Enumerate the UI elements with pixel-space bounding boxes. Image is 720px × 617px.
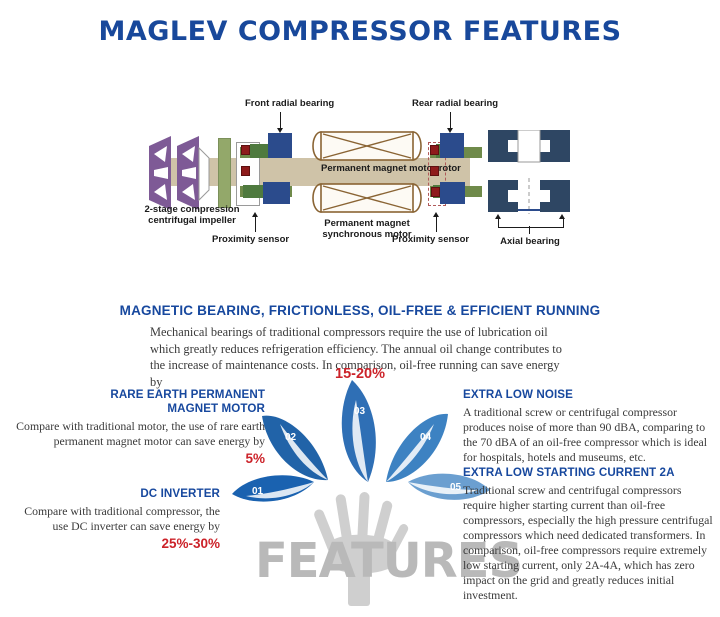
section-heading: MAGNETIC BEARING, FRICTIONLESS, OIL-FREE… bbox=[0, 303, 720, 318]
front-bearing-coil-top bbox=[250, 144, 268, 158]
front-bearing-block-bottom bbox=[263, 182, 290, 204]
petal-02[interactable] bbox=[262, 416, 328, 480]
label-impeller-line1: 2-stage compression bbox=[140, 204, 244, 215]
page-title: MAGLEV COMPRESSOR FEATURES bbox=[0, 16, 720, 47]
label-axial-bearing: Axial bearing bbox=[492, 236, 568, 247]
callout-dc-inverter-value-text: 25%-30% bbox=[161, 536, 220, 551]
callout-dc-inverter-heading: DC INVERTER bbox=[20, 487, 220, 501]
axial-bearing-graphic bbox=[488, 130, 570, 214]
petal-number-03: 03 bbox=[354, 406, 365, 417]
callout-rare-earth-body: Compare with traditional motor, the use … bbox=[10, 419, 265, 449]
features-watermark: FEATURES bbox=[255, 536, 490, 586]
label-proximity-sensor-right: Proximity sensor bbox=[392, 234, 469, 245]
motor-coil-top bbox=[312, 128, 422, 164]
petal-04[interactable] bbox=[386, 414, 448, 482]
infographic-page: MAGLEV COMPRESSOR FEATURES Front radial … bbox=[0, 0, 720, 617]
callout-low-noise-body: A traditional screw or centrifugal compr… bbox=[463, 405, 713, 465]
label-proximity-sensor-left: Proximity sensor bbox=[212, 234, 289, 245]
callout-low-current-body: Traditional screw and centrifugal compre… bbox=[463, 483, 715, 603]
callout-low-noise-heading: EXTRA LOW NOISE bbox=[463, 388, 713, 402]
rear-bearing-block-top bbox=[440, 133, 464, 158]
arrow-rear-radial-line bbox=[450, 112, 451, 129]
arrow-front-radial-line bbox=[280, 112, 281, 129]
rear-sensor-bottom bbox=[431, 187, 440, 197]
petal-number-02: 02 bbox=[285, 432, 296, 443]
axial-brace-stem bbox=[529, 226, 530, 234]
front-sensor-mid bbox=[241, 166, 250, 176]
petal-number-04: 04 bbox=[420, 432, 431, 443]
compressor-diagram: Front radial bearing Rear radial bearing… bbox=[140, 92, 580, 257]
callout-rare-earth-heading-line2: MAGNET MOTOR bbox=[20, 402, 265, 416]
arrow-prox-right-line bbox=[436, 216, 437, 232]
rear-bearing-block-bottom bbox=[440, 182, 465, 204]
petal-03[interactable] bbox=[342, 380, 376, 482]
callout-rare-earth-heading-line1: RARE EARTH PERMANENT bbox=[20, 388, 265, 402]
rear-sensor-top bbox=[430, 145, 439, 155]
label-motor-line1: Permanent magnet bbox=[312, 218, 422, 229]
petal-number-05: 05 bbox=[450, 482, 461, 493]
arrow-prox-left-line bbox=[255, 216, 256, 232]
front-sensor-top bbox=[241, 145, 250, 155]
callout-dc-inverter-body: Compare with traditional compressor, the… bbox=[10, 504, 220, 534]
label-front-radial-bearing: Front radial bearing bbox=[245, 98, 334, 109]
callout-low-current-heading: EXTRA LOW STARTING CURRENT 2A bbox=[463, 466, 715, 480]
axial-brace bbox=[498, 218, 564, 228]
callout-dc-inverter-value: 25%-30% bbox=[10, 535, 220, 553]
label-rear-radial-bearing: Rear radial bearing bbox=[412, 98, 498, 109]
impeller-graphic bbox=[145, 134, 215, 212]
front-bearing-block-top bbox=[268, 133, 292, 158]
label-impeller-line2: centrifugal impeller bbox=[140, 215, 244, 226]
callout-rare-earth-value: 5% bbox=[10, 450, 265, 468]
petal-number-01: 01 bbox=[252, 486, 263, 497]
motor-coil-bottom bbox=[312, 180, 422, 216]
shaft-collar bbox=[218, 138, 231, 208]
front-bearing-coil-bottom bbox=[243, 185, 263, 198]
rear-sensor-mid bbox=[430, 166, 439, 176]
callout-rare-earth-value-text: 5% bbox=[245, 451, 265, 466]
